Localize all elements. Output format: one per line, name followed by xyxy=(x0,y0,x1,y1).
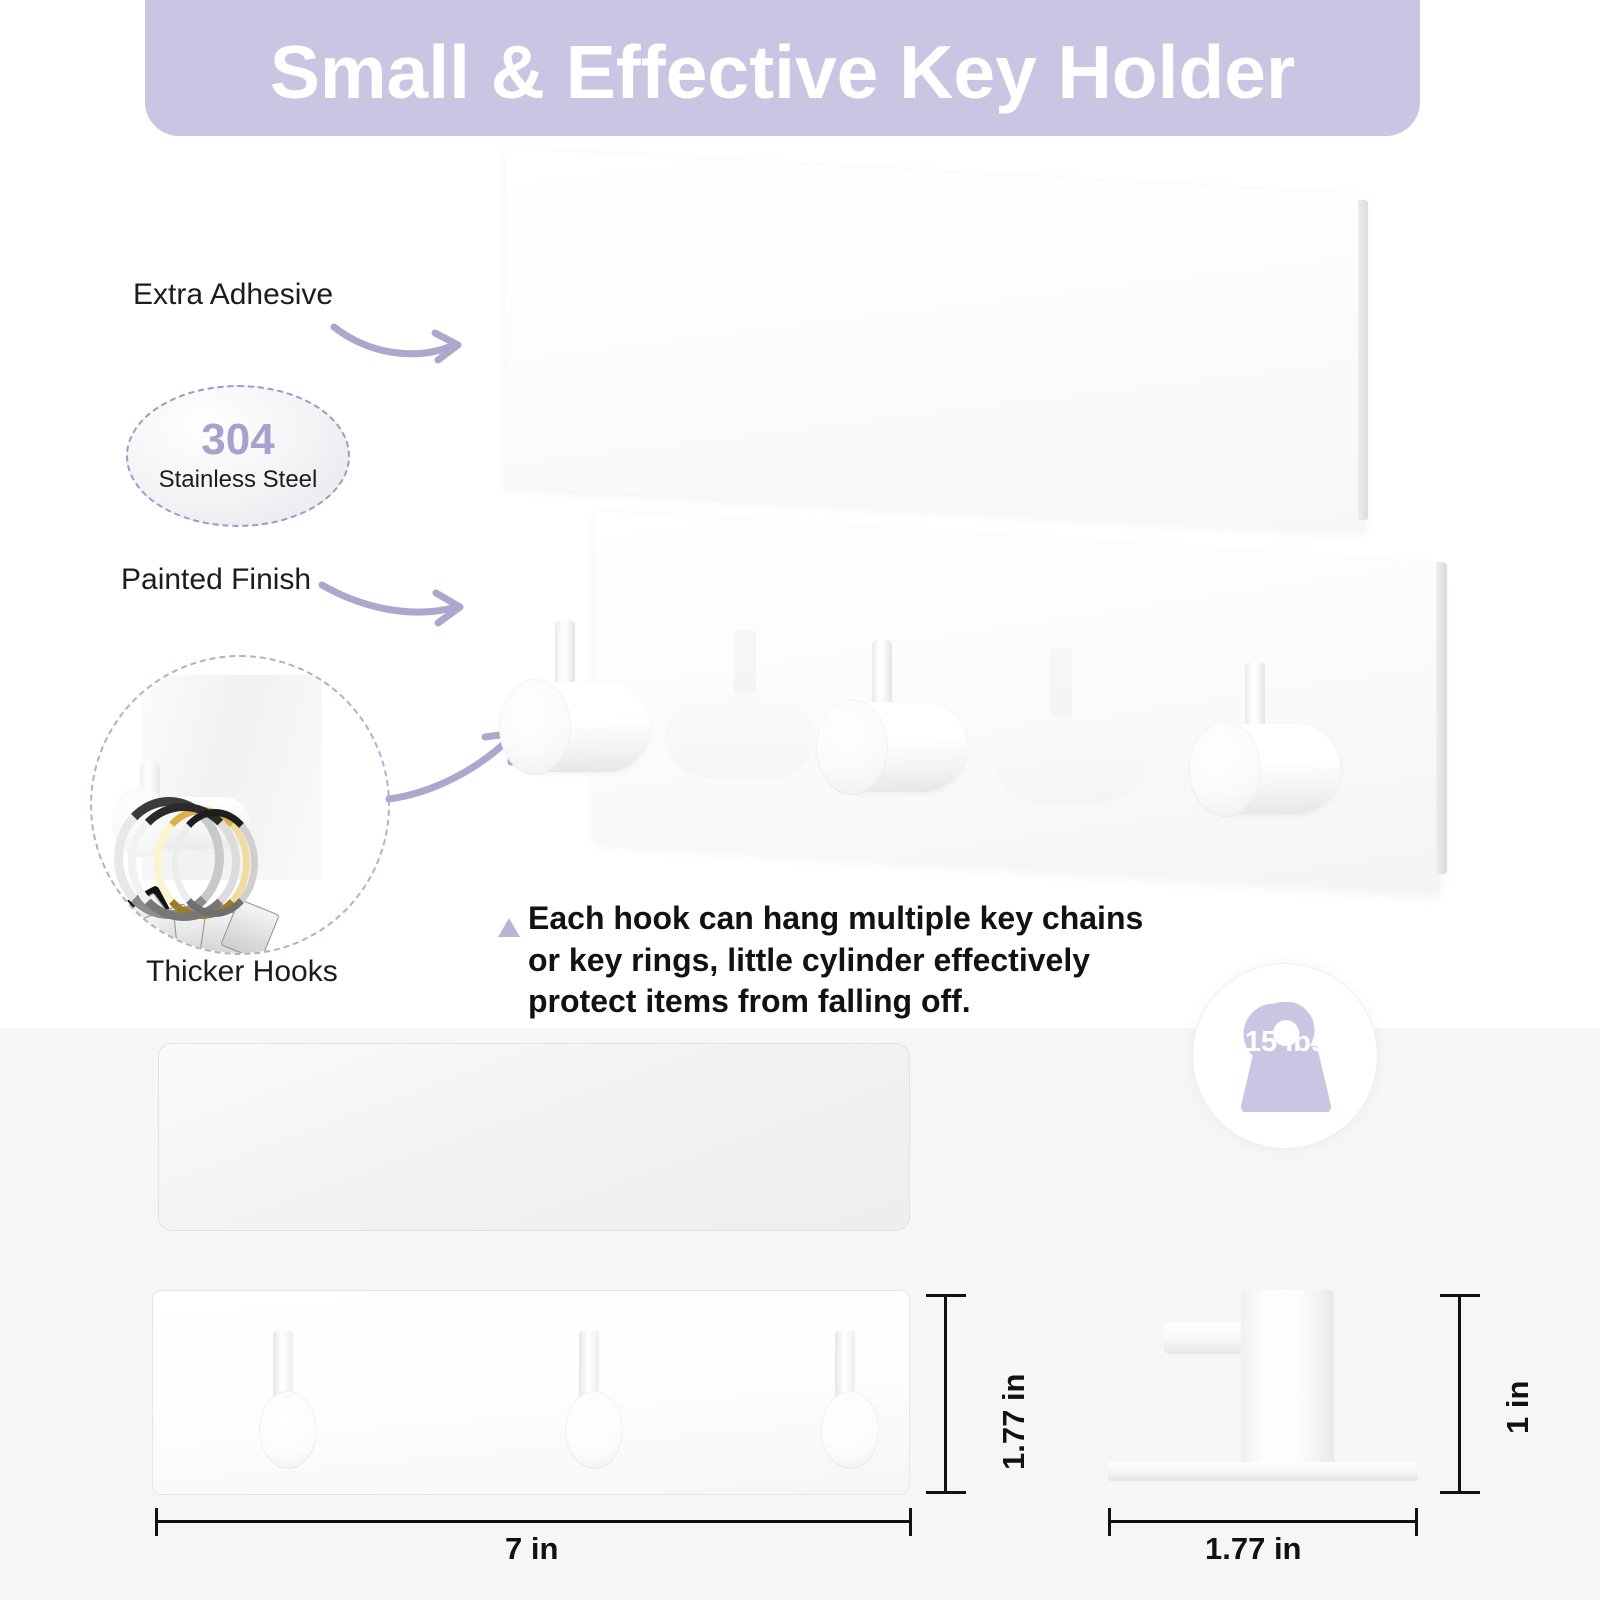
plate-reflection-cylinder xyxy=(995,716,1145,802)
weight-capacity-badge: 15 lbs xyxy=(1192,963,1378,1149)
dimension-cap xyxy=(155,1508,158,1536)
thicker-hooks-closeup-circle xyxy=(90,655,390,955)
front-view-hook xyxy=(557,1331,623,1461)
dimension-label-plate-width: 7 in xyxy=(505,1531,558,1567)
main-product-image xyxy=(490,520,1450,940)
side-view-backplate xyxy=(1108,1462,1418,1481)
hook-end-face xyxy=(259,1391,317,1469)
label-thicker-hooks: Thicker Hooks xyxy=(146,955,338,989)
dimension-line-plate-height xyxy=(944,1294,947,1494)
label-painted-finish: Painted Finish xyxy=(121,563,311,597)
dimension-cap xyxy=(1108,1508,1111,1536)
front-view-hook xyxy=(813,1331,879,1461)
hook-end-face xyxy=(821,1391,879,1469)
callout-text: Each hook can hang multiple key chains o… xyxy=(528,898,1178,1023)
dimension-cap xyxy=(1440,1491,1480,1494)
front-view-hook xyxy=(251,1331,317,1461)
title-banner: Small & Effective Key Holder xyxy=(145,0,1420,136)
dimension-cap xyxy=(926,1294,966,1297)
plate-reflection-cylinder xyxy=(665,692,815,778)
side-view-hook-image xyxy=(1108,1282,1418,1497)
badge-304-caption: Stainless Steel xyxy=(159,466,318,494)
dimension-line-plate-width xyxy=(155,1520,912,1523)
dimension-cap xyxy=(1440,1294,1480,1297)
side-view-hook-cylinder xyxy=(1241,1290,1334,1470)
hook-end-face xyxy=(1189,721,1261,817)
dimension-label-hook-width: 1.77 in xyxy=(1205,1531,1302,1567)
dimension-cap xyxy=(909,1508,912,1536)
side-view-hook-pin xyxy=(1164,1322,1246,1354)
adhesive-backplate-edge xyxy=(1358,200,1368,521)
adhesive-backplate-image xyxy=(505,149,1365,534)
dimension-label-plate-height: 1.77 in xyxy=(996,1374,1032,1471)
front-view-product-image xyxy=(152,1290,910,1495)
blank-plate-image xyxy=(158,1043,910,1231)
hook-end-face xyxy=(565,1391,623,1469)
hook-end-face xyxy=(499,679,571,775)
dimension-cap xyxy=(926,1491,966,1494)
dimension-label-hook-height: 1 in xyxy=(1500,1381,1536,1434)
badge-304-number: 304 xyxy=(201,418,274,462)
page-title: Small & Effective Key Holder xyxy=(270,35,1295,136)
hook-end-face xyxy=(816,699,888,795)
curved-arrow-right-icon xyxy=(330,305,480,380)
callout: Each hook can hang multiple key chains o… xyxy=(498,898,1178,1023)
closeup-key-ring-silver xyxy=(172,809,258,917)
dimension-line-hook-height xyxy=(1458,1294,1461,1494)
badge-304-stainless-steel: 304 Stainless Steel xyxy=(126,385,350,527)
infographic-page: Small & Effective Key Holder Extra Adhes… xyxy=(0,0,1600,1600)
triangle-up-icon xyxy=(498,918,520,937)
dimension-cap xyxy=(1415,1508,1418,1536)
dimension-line-hook-width xyxy=(1108,1520,1418,1523)
label-extra-adhesive: Extra Adhesive xyxy=(133,278,333,312)
weight-capacity-value: 15 lbs xyxy=(1193,1026,1379,1059)
product-backplate-edge xyxy=(1436,562,1447,875)
curved-arrow-right-icon xyxy=(318,565,483,640)
